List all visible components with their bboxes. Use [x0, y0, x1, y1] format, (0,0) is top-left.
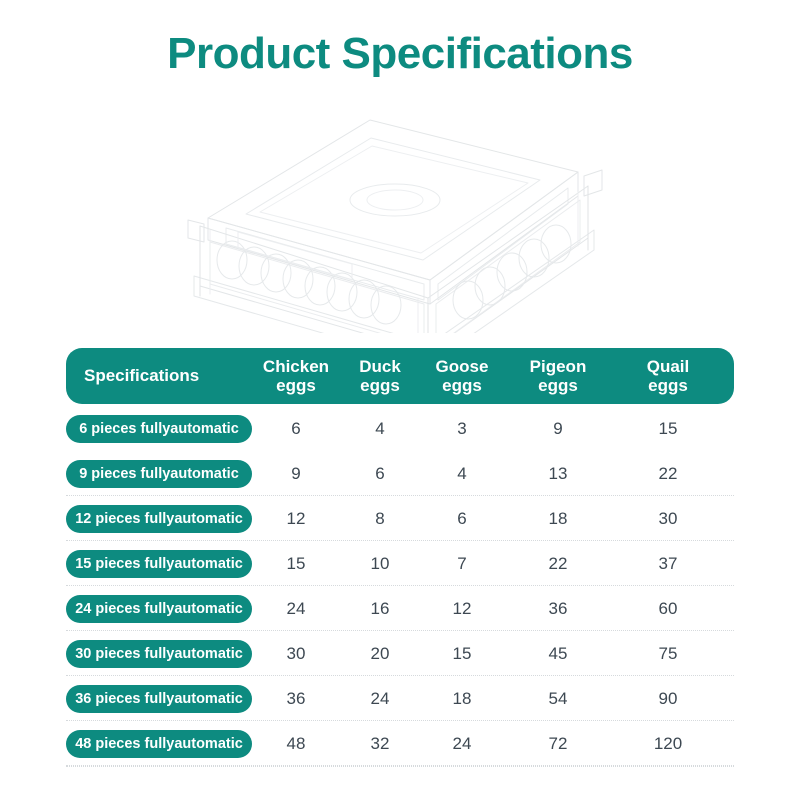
column-header-duck-line2: eggs	[340, 376, 420, 395]
cell-quail: 75	[612, 644, 724, 664]
cell-chicken: 48	[252, 734, 340, 754]
cell-goose: 15	[420, 644, 504, 664]
column-header-goose-line2: eggs	[420, 376, 504, 395]
table-body: 6 pieces fullyautomatic 6 4 3 9 15 9 pie…	[66, 404, 734, 767]
column-header-chicken-line2: eggs	[252, 376, 340, 395]
cell-quail: 37	[612, 554, 724, 574]
row-label-badge: 9 pieces fullyautomatic	[66, 460, 252, 488]
column-header-duck-eggs: Duck eggs	[340, 357, 420, 395]
row-label-badge: 12 pieces fullyautomatic	[66, 505, 252, 533]
table-row: 48 pieces fullyautomatic 48 32 24 72 120	[66, 721, 734, 766]
cell-quail: 30	[612, 509, 724, 529]
cell-duck: 24	[340, 689, 420, 709]
cell-pigeon: 45	[504, 644, 612, 664]
cell-quail: 90	[612, 689, 724, 709]
column-header-specifications: Specifications	[66, 366, 252, 385]
cell-goose: 24	[420, 734, 504, 754]
cell-chicken: 6	[252, 419, 340, 439]
column-header-quail-eggs: Quail eggs	[612, 357, 724, 395]
cell-goose: 3	[420, 419, 504, 439]
specifications-table: Specifications Chicken eggs Duck eggs Go…	[66, 348, 734, 767]
cell-quail: 60	[612, 599, 724, 619]
column-header-duck-line1: Duck	[340, 357, 420, 376]
cell-pigeon: 72	[504, 734, 612, 754]
column-header-pigeon-line1: Pigeon	[504, 357, 612, 376]
cell-chicken: 12	[252, 509, 340, 529]
cell-duck: 20	[340, 644, 420, 664]
cell-duck: 10	[340, 554, 420, 574]
cell-goose: 6	[420, 509, 504, 529]
cell-quail: 22	[612, 464, 724, 484]
cell-chicken: 9	[252, 464, 340, 484]
cell-duck: 16	[340, 599, 420, 619]
cell-duck: 4	[340, 419, 420, 439]
table-row: 6 pieces fullyautomatic 6 4 3 9 15	[66, 406, 734, 451]
table-row: 15 pieces fullyautomatic 15 10 7 22 37	[66, 541, 734, 586]
row-label-badge: 15 pieces fullyautomatic	[66, 550, 252, 578]
product-image	[180, 108, 620, 333]
cell-chicken: 24	[252, 599, 340, 619]
table-row: 24 pieces fullyautomatic 24 16 12 36 60	[66, 586, 734, 631]
table-row: 12 pieces fullyautomatic 12 8 6 18 30	[66, 496, 734, 541]
cell-chicken: 36	[252, 689, 340, 709]
row-label-badge: 6 pieces fullyautomatic	[66, 415, 252, 443]
column-header-goose-line1: Goose	[420, 357, 504, 376]
table-row: 36 pieces fullyautomatic 36 24 18 54 90	[66, 676, 734, 721]
row-separator	[66, 765, 734, 766]
table-row: 30 pieces fullyautomatic 30 20 15 45 75	[66, 631, 734, 676]
cell-goose: 12	[420, 599, 504, 619]
cell-quail: 120	[612, 734, 724, 754]
cell-pigeon: 13	[504, 464, 612, 484]
cell-chicken: 15	[252, 554, 340, 574]
cell-duck: 8	[340, 509, 420, 529]
cell-goose: 4	[420, 464, 504, 484]
cell-duck: 6	[340, 464, 420, 484]
table-header-row: Specifications Chicken eggs Duck eggs Go…	[66, 348, 734, 404]
column-header-quail-line2: eggs	[612, 376, 724, 395]
row-label-badge: 30 pieces fullyautomatic	[66, 640, 252, 668]
row-label-badge: 48 pieces fullyautomatic	[66, 730, 252, 758]
cell-pigeon: 54	[504, 689, 612, 709]
cell-pigeon: 36	[504, 599, 612, 619]
cell-quail: 15	[612, 419, 724, 439]
cell-goose: 18	[420, 689, 504, 709]
cell-chicken: 30	[252, 644, 340, 664]
column-header-chicken-line1: Chicken	[252, 357, 340, 376]
column-header-chicken-eggs: Chicken eggs	[252, 357, 340, 395]
cell-duck: 32	[340, 734, 420, 754]
page-title: Product Specifications	[0, 28, 800, 81]
cell-pigeon: 9	[504, 419, 612, 439]
column-header-goose-eggs: Goose eggs	[420, 357, 504, 395]
cell-goose: 7	[420, 554, 504, 574]
table-bottom-separator	[66, 766, 734, 767]
row-label-badge: 24 pieces fullyautomatic	[66, 595, 252, 623]
column-header-pigeon-eggs: Pigeon eggs	[504, 357, 612, 395]
row-label-badge: 36 pieces fullyautomatic	[66, 685, 252, 713]
cell-pigeon: 22	[504, 554, 612, 574]
cell-pigeon: 18	[504, 509, 612, 529]
column-header-quail-line1: Quail	[612, 357, 724, 376]
table-row: 9 pieces fullyautomatic 9 6 4 13 22	[66, 451, 734, 496]
column-header-pigeon-line2: eggs	[504, 376, 612, 395]
